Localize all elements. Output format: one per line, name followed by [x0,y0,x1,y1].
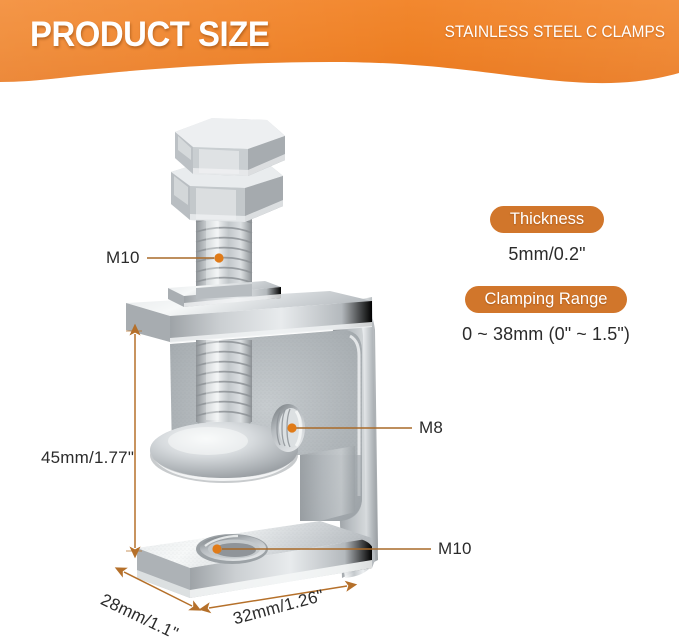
product-illustration [0,92,679,637]
page-title: PRODUCT SIZE [30,17,269,54]
header-subtitle: STAINLESS STEEL C CLAMPS [444,23,665,42]
callout-dot-side-hole [287,423,296,432]
callout-dot-base-hole [212,544,221,553]
header-banner: PRODUCT SIZE STAINLESS STEEL C CLAMPS [0,0,679,92]
dimension-label-height: 45mm/1.77" [41,448,134,468]
callout-label-side-hole: M8 [419,418,443,438]
callout-label-base-hole: M10 [438,539,472,559]
callout-label-bolt-thread: M10 [106,248,140,268]
callout-dot-bolt-thread [214,253,223,262]
